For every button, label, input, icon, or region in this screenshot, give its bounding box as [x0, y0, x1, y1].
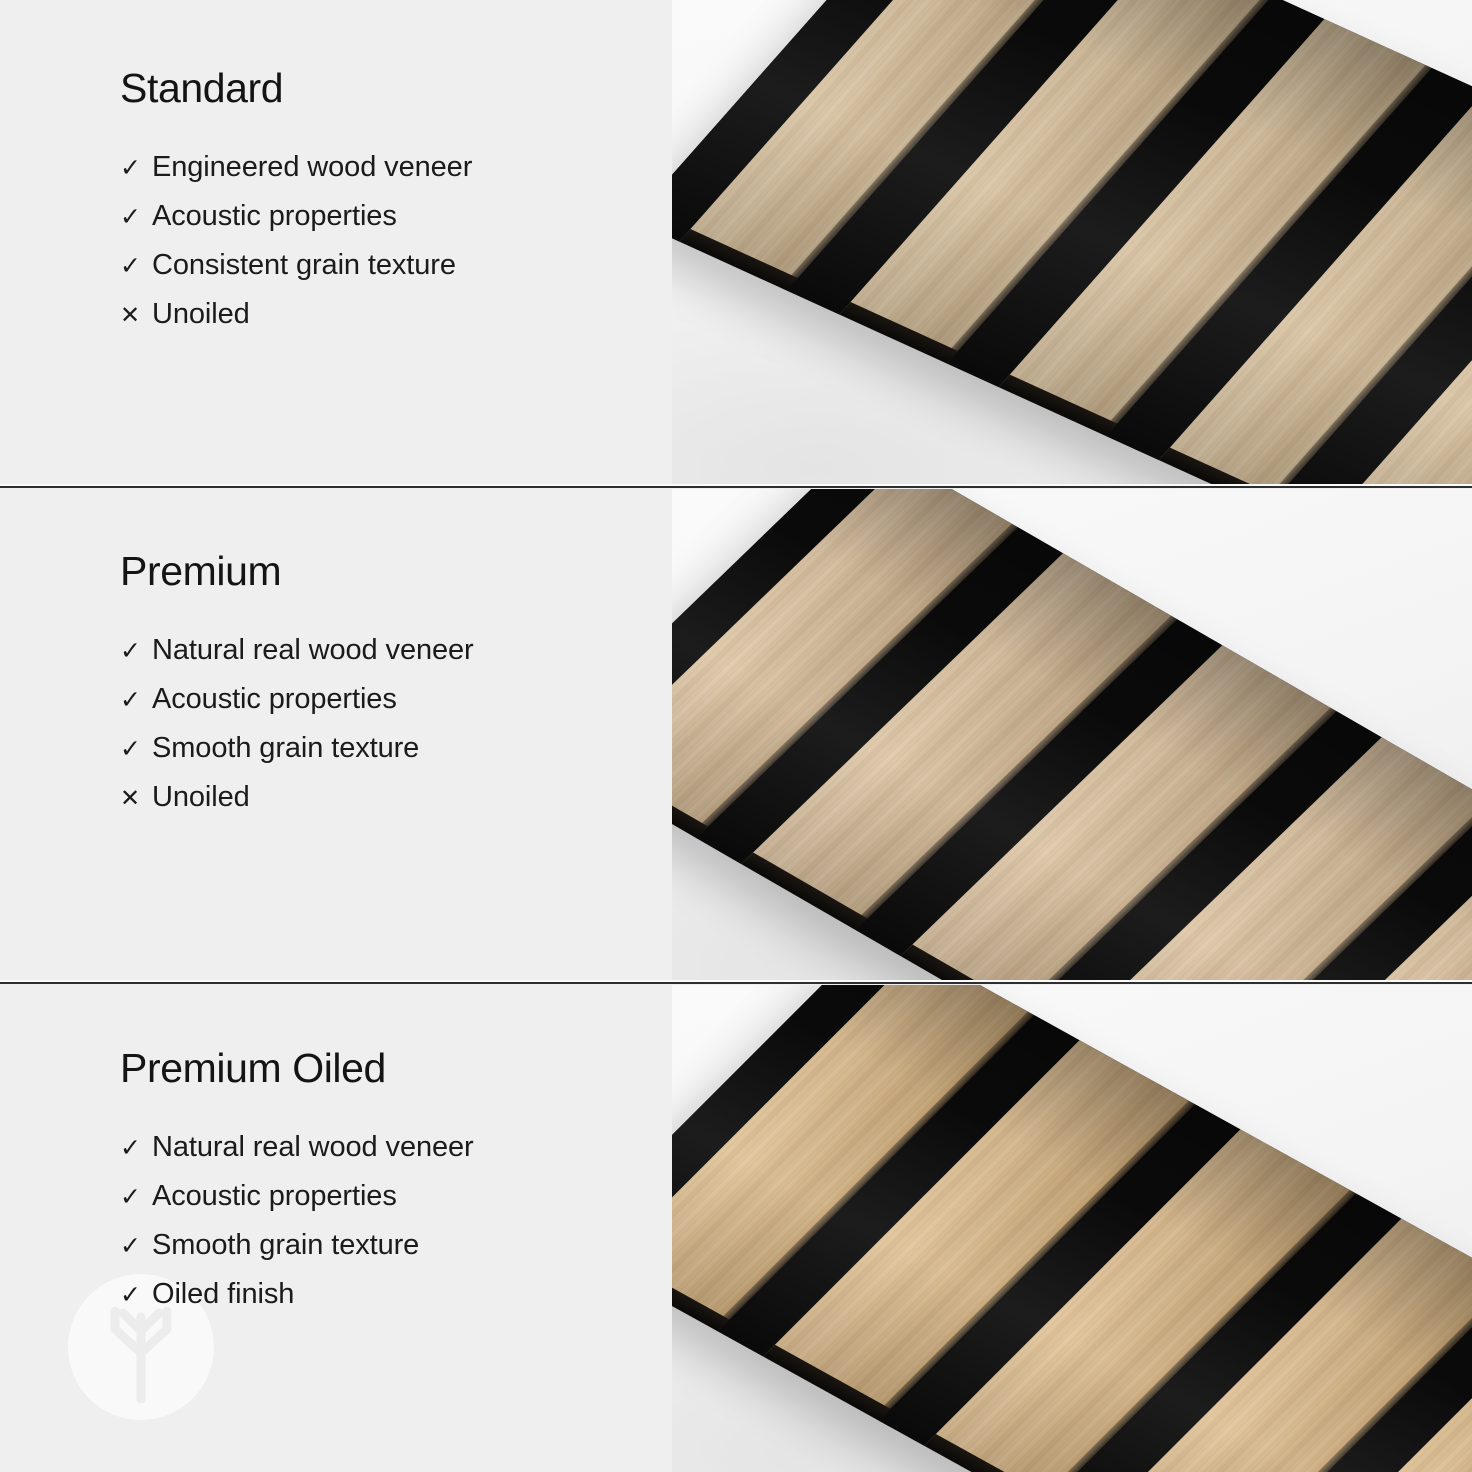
feature-item: ✓ Smooth grain texture	[120, 734, 640, 783]
feature-item: ✓ Engineered wood veneer	[120, 153, 640, 202]
product-photo-standard	[672, 0, 1472, 487]
check-icon: ✓	[120, 155, 152, 180]
feature-label: Natural real wood veneer	[152, 636, 474, 665]
check-icon: ✓	[120, 253, 152, 278]
feature-item: ✓ Smooth grain texture	[120, 1231, 640, 1280]
tier-title: Premium Oiled	[120, 985, 640, 1089]
tier-text-premium-oiled: Premium Oiled ✓ Natural real wood veneer…	[0, 985, 640, 1472]
feature-list: ✓ Natural real wood veneer ✓ Acoustic pr…	[120, 636, 640, 832]
product-photo-premium	[672, 489, 1472, 983]
feature-label: Oiled finish	[152, 1280, 294, 1309]
tier-section-premium: Premium ✓ Natural real wood veneer ✓ Aco…	[0, 489, 1472, 983]
tier-text-standard: Standard ✓ Engineered wood veneer ✓ Acou…	[0, 0, 640, 487]
product-photo-premium-oiled	[672, 985, 1472, 1472]
tier-section-standard: Standard ✓ Engineered wood veneer ✓ Acou…	[0, 0, 1472, 487]
cross-icon: ✕	[120, 786, 152, 810]
check-icon: ✓	[120, 687, 152, 712]
feature-item: ✕ Unoiled	[120, 783, 640, 832]
tier-section-premium-oiled: Premium Oiled ✓ Natural real wood veneer…	[0, 985, 1472, 1472]
check-icon: ✓	[120, 204, 152, 229]
feature-label: Acoustic properties	[152, 202, 397, 231]
tier-text-premium: Premium ✓ Natural real wood veneer ✓ Aco…	[0, 489, 640, 983]
check-icon: ✓	[120, 736, 152, 761]
feature-label: Consistent grain texture	[152, 251, 456, 280]
feature-item: ✓ Natural real wood veneer	[120, 636, 640, 685]
feature-list: ✓ Natural real wood veneer ✓ Acoustic pr…	[120, 1133, 640, 1329]
feature-item: ✕ Unoiled	[120, 300, 640, 349]
check-icon: ✓	[120, 638, 152, 663]
feature-item: ✓ Natural real wood veneer	[120, 1133, 640, 1182]
feature-item: ✓ Oiled finish	[120, 1280, 640, 1329]
cross-icon: ✕	[120, 303, 152, 327]
feature-list: ✓ Engineered wood veneer ✓ Acoustic prop…	[120, 153, 640, 349]
check-icon: ✓	[120, 1282, 152, 1307]
feature-item: ✓ Acoustic properties	[120, 202, 640, 251]
feature-item: ✓ Consistent grain texture	[120, 251, 640, 300]
check-icon: ✓	[120, 1135, 152, 1160]
check-icon: ✓	[120, 1233, 152, 1258]
feature-label: Acoustic properties	[152, 1182, 397, 1211]
finish-comparison-board: Standard ✓ Engineered wood veneer ✓ Acou…	[0, 0, 1472, 1472]
section-divider	[0, 982, 1472, 984]
check-icon: ✓	[120, 1184, 152, 1209]
feature-item: ✓ Acoustic properties	[120, 685, 640, 734]
feature-label: Smooth grain texture	[152, 734, 419, 763]
tier-title: Premium	[120, 489, 640, 592]
section-divider	[0, 486, 1472, 488]
feature-label: Acoustic properties	[152, 685, 397, 714]
feature-label: Unoiled	[152, 783, 250, 812]
feature-label: Engineered wood veneer	[152, 153, 472, 182]
feature-label: Natural real wood veneer	[152, 1133, 474, 1162]
feature-item: ✓ Acoustic properties	[120, 1182, 640, 1231]
feature-label: Unoiled	[152, 300, 250, 329]
tier-title: Standard	[120, 0, 640, 109]
feature-label: Smooth grain texture	[152, 1231, 419, 1260]
